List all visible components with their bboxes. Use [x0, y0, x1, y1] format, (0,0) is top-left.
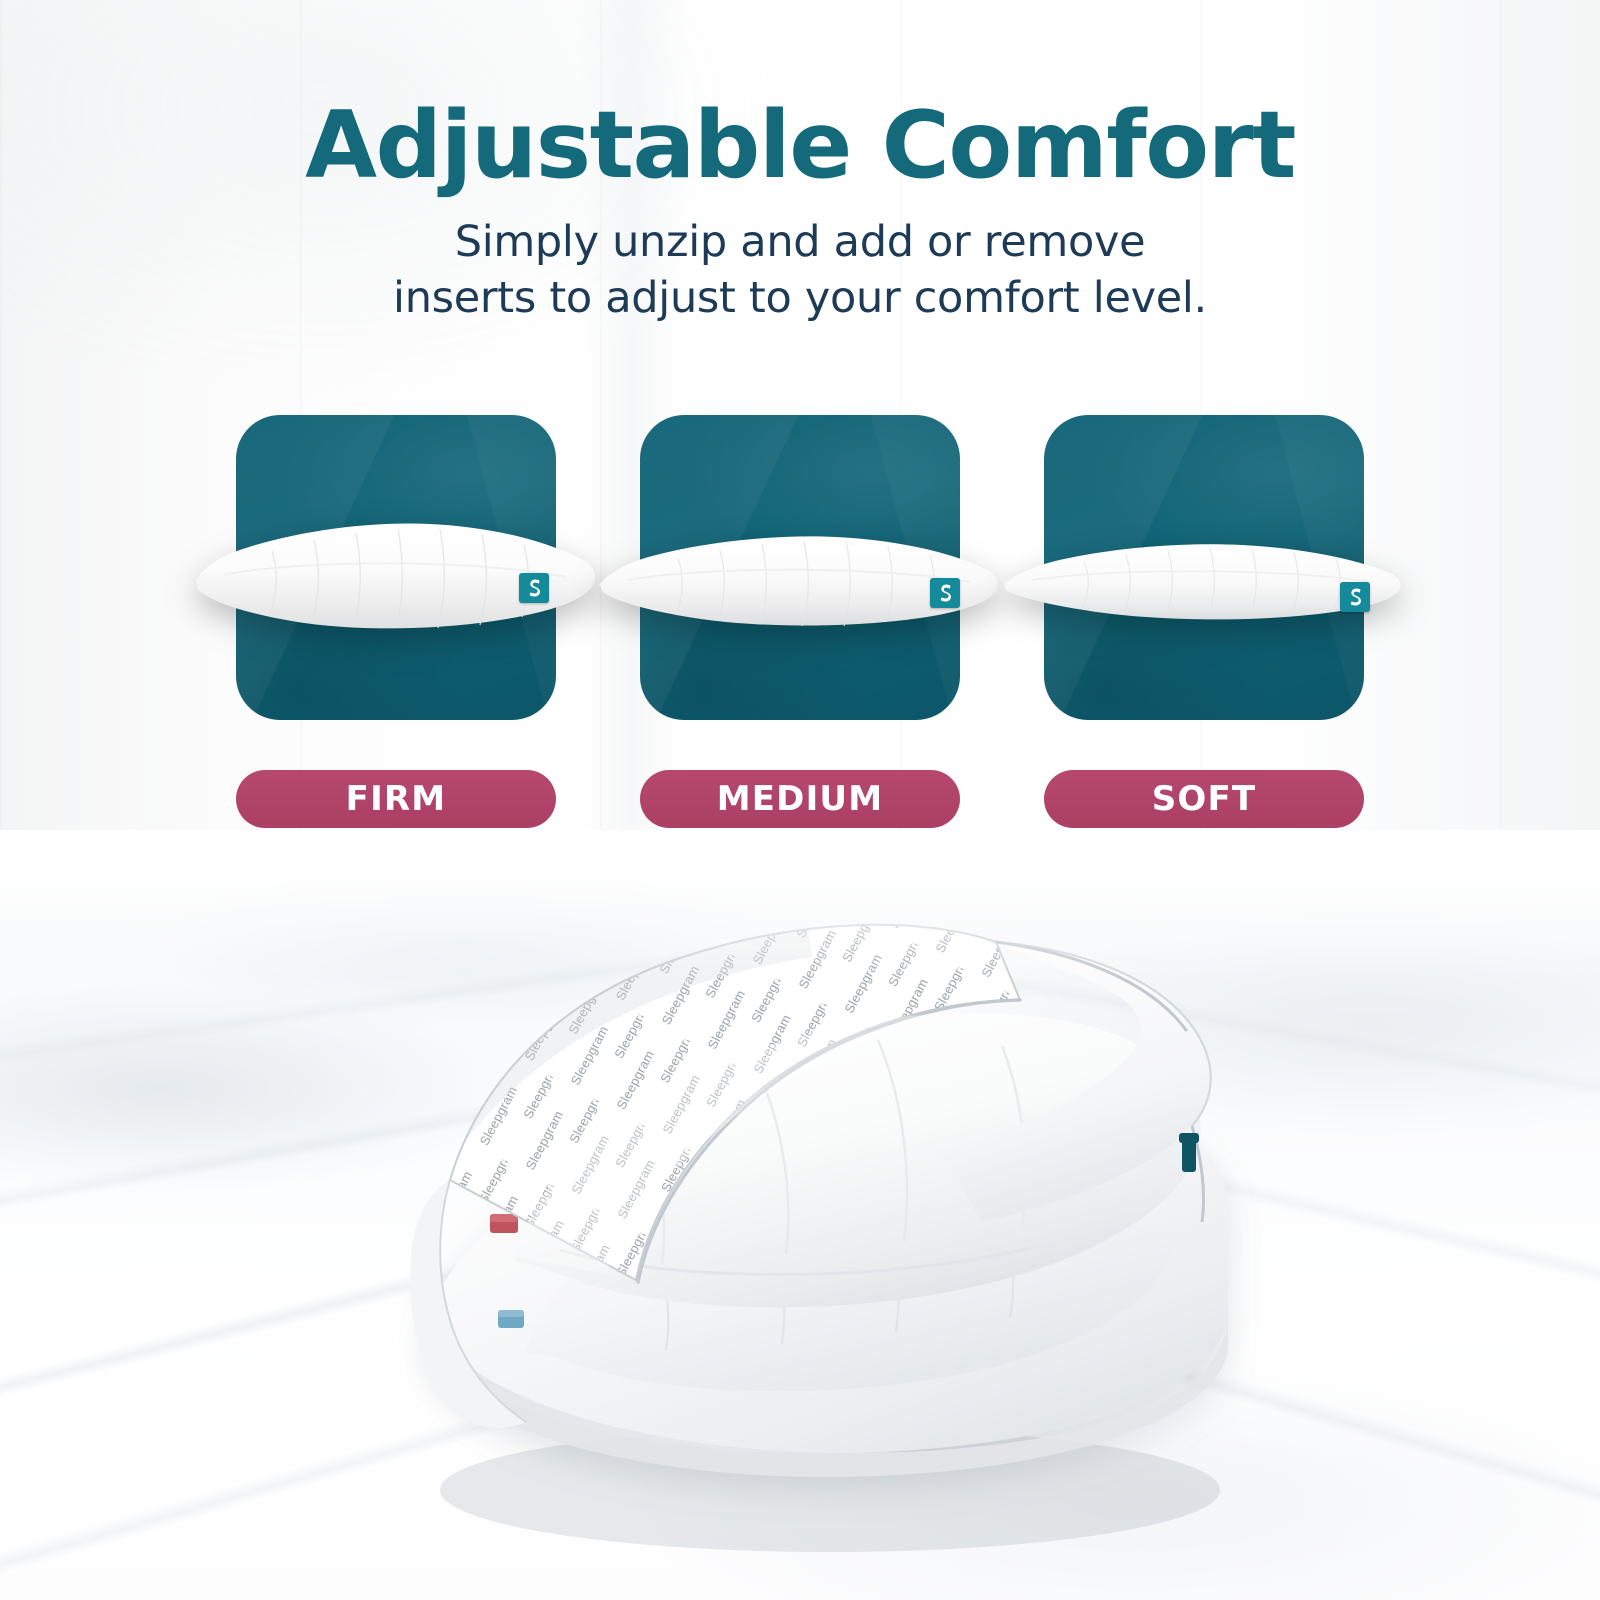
- sleepgram-s-logo-icon: [930, 578, 960, 608]
- subtitle-line-1: Simply unzip and add or remove: [0, 215, 1600, 271]
- upper-insert-tab: [490, 1214, 518, 1233]
- sleepgram-s-logo-icon: [1340, 582, 1370, 612]
- subtitle-line-2: inserts to adjust to your comfort level.: [0, 271, 1600, 327]
- comfort-level-badge-firm[interactable]: FIRM: [236, 770, 556, 828]
- marketing-image-canvas: Adjustable Comfort Simply unzip and add …: [0, 0, 1600, 1600]
- page-title: Adjustable Comfort: [0, 98, 1600, 193]
- adjustable-pillow-product: Sleepgram Sleepgram: [330, 850, 1290, 1570]
- comfort-card-tile: [236, 415, 556, 720]
- comfort-level-cards: FIRM: [0, 415, 1600, 720]
- lower-insert-tab: [498, 1310, 524, 1328]
- comfort-level-label: MEDIUM: [717, 782, 884, 816]
- comfort-level-label: FIRM: [346, 782, 447, 816]
- comfort-card-tile: [640, 415, 960, 720]
- comfort-card-soft[interactable]: SOFT: [1044, 415, 1364, 720]
- zipper-pull-icon: [1179, 1133, 1199, 1172]
- comfort-card-medium[interactable]: MEDIUM: [640, 415, 960, 720]
- comfort-card-tile: [1044, 415, 1364, 720]
- comfort-level-badge-soft[interactable]: SOFT: [1044, 770, 1364, 828]
- product-photo-scene: Sleepgram Sleepgram: [0, 830, 1600, 1600]
- sleepgram-s-logo-icon: [519, 573, 549, 603]
- comfort-level-label: SOFT: [1152, 782, 1257, 816]
- page-subtitle: Simply unzip and add or remove inserts t…: [0, 215, 1600, 327]
- comfort-card-firm[interactable]: FIRM: [236, 415, 556, 720]
- comfort-level-badge-medium[interactable]: MEDIUM: [640, 770, 960, 828]
- header-block: Adjustable Comfort Simply unzip and add …: [0, 0, 1600, 327]
